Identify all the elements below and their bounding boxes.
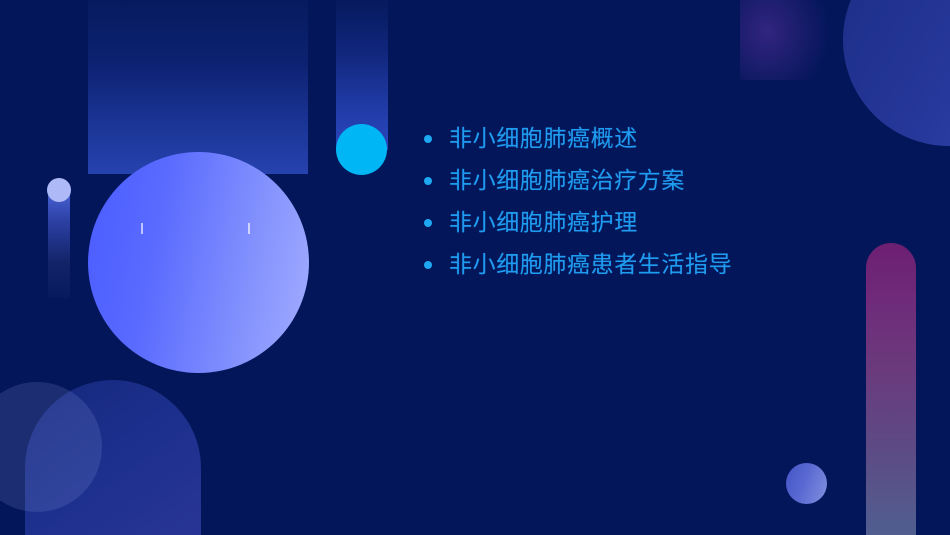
wide-gradient-panel-decoration: [88, 0, 308, 174]
large-periwinkle-sphere-decoration: [88, 152, 309, 373]
magenta-vertical-bar-decoration: [866, 243, 916, 535]
list-item[interactable]: 非小细胞肺癌护理: [424, 202, 894, 244]
list-item[interactable]: 非小细胞肺癌患者生活指导: [424, 244, 894, 286]
list-item[interactable]: 非小细胞肺癌治疗方案: [424, 160, 894, 202]
left-bar-cap-circle-decoration: [47, 178, 71, 202]
list-item-label: 非小细胞肺癌概述: [449, 125, 638, 153]
bullet-dot-icon: [424, 219, 432, 227]
cyan-circle-decoration: [336, 124, 387, 175]
tick-mark-left-decoration: [141, 223, 143, 234]
bottom-left-arch-decoration: [25, 380, 201, 535]
purple-wash-decoration: [740, 0, 830, 80]
list-item-label: 非小细胞肺癌护理: [449, 209, 638, 237]
bullet-dot-icon: [424, 177, 432, 185]
bullet-dot-icon: [424, 135, 432, 143]
list-item-label: 非小细胞肺癌患者生活指导: [449, 251, 732, 279]
bottom-right-sphere-decoration: [786, 463, 827, 504]
slide-canvas: 非小细胞肺癌概述 非小细胞肺癌治疗方案 非小细胞肺癌护理 非小细胞肺癌患者生活指…: [0, 0, 950, 535]
left-gradient-bar-decoration: [48, 190, 70, 298]
bullet-dot-icon: [424, 261, 432, 269]
list-item-label: 非小细胞肺癌治疗方案: [449, 167, 685, 195]
tick-mark-right-decoration: [248, 223, 250, 234]
list-item[interactable]: 非小细胞肺癌概述: [424, 118, 894, 160]
narrow-gradient-panel-decoration: [336, 0, 388, 150]
translucent-circle-decoration: [0, 382, 102, 512]
agenda-list: 非小细胞肺癌概述 非小细胞肺癌治疗方案 非小细胞肺癌护理 非小细胞肺癌患者生活指…: [424, 118, 894, 286]
